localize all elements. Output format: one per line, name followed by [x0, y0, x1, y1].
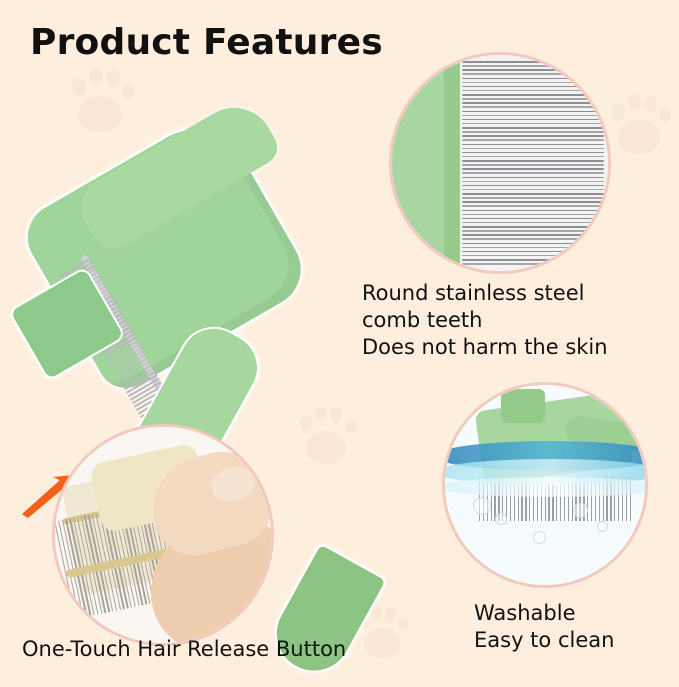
wash-photo-bubble [573, 503, 588, 518]
caption-washable: Washable Easy to clean [474, 600, 674, 654]
wash-photo-bubble [473, 497, 491, 515]
caption-comb-teeth-line1: Round stainless steel [362, 280, 652, 307]
comb-macro-green-edge [444, 55, 460, 271]
inset-hand-button-photo [52, 424, 274, 646]
caption-washable-line1: Washable [474, 600, 674, 627]
caption-comb-teeth: Round stainless steel comb teeth Does no… [362, 280, 652, 361]
inset-comb-teeth-photo [389, 52, 611, 274]
wash-photo-bubble [495, 513, 507, 525]
wash-photo-release-tab [501, 389, 545, 423]
wash-photo-bubble [597, 521, 608, 532]
feature-poster: Product Features [0, 0, 679, 679]
comb-macro-teeth [462, 61, 604, 265]
caption-comb-teeth-line3: Does not harm the skin [362, 334, 652, 361]
paw-print-icon [612, 92, 676, 156]
wash-photo-bubble [533, 531, 546, 544]
caption-hand-button: One-Touch Hair Release Button [22, 636, 402, 663]
brush-handle-tip [261, 542, 388, 687]
caption-comb-teeth-line2: comb teeth [362, 307, 652, 334]
page-title: Product Features [30, 22, 383, 63]
wash-photo-wave-3 [442, 477, 648, 497]
inset-washable-photo [442, 382, 648, 588]
caption-washable-line2: Easy to clean [474, 627, 674, 654]
